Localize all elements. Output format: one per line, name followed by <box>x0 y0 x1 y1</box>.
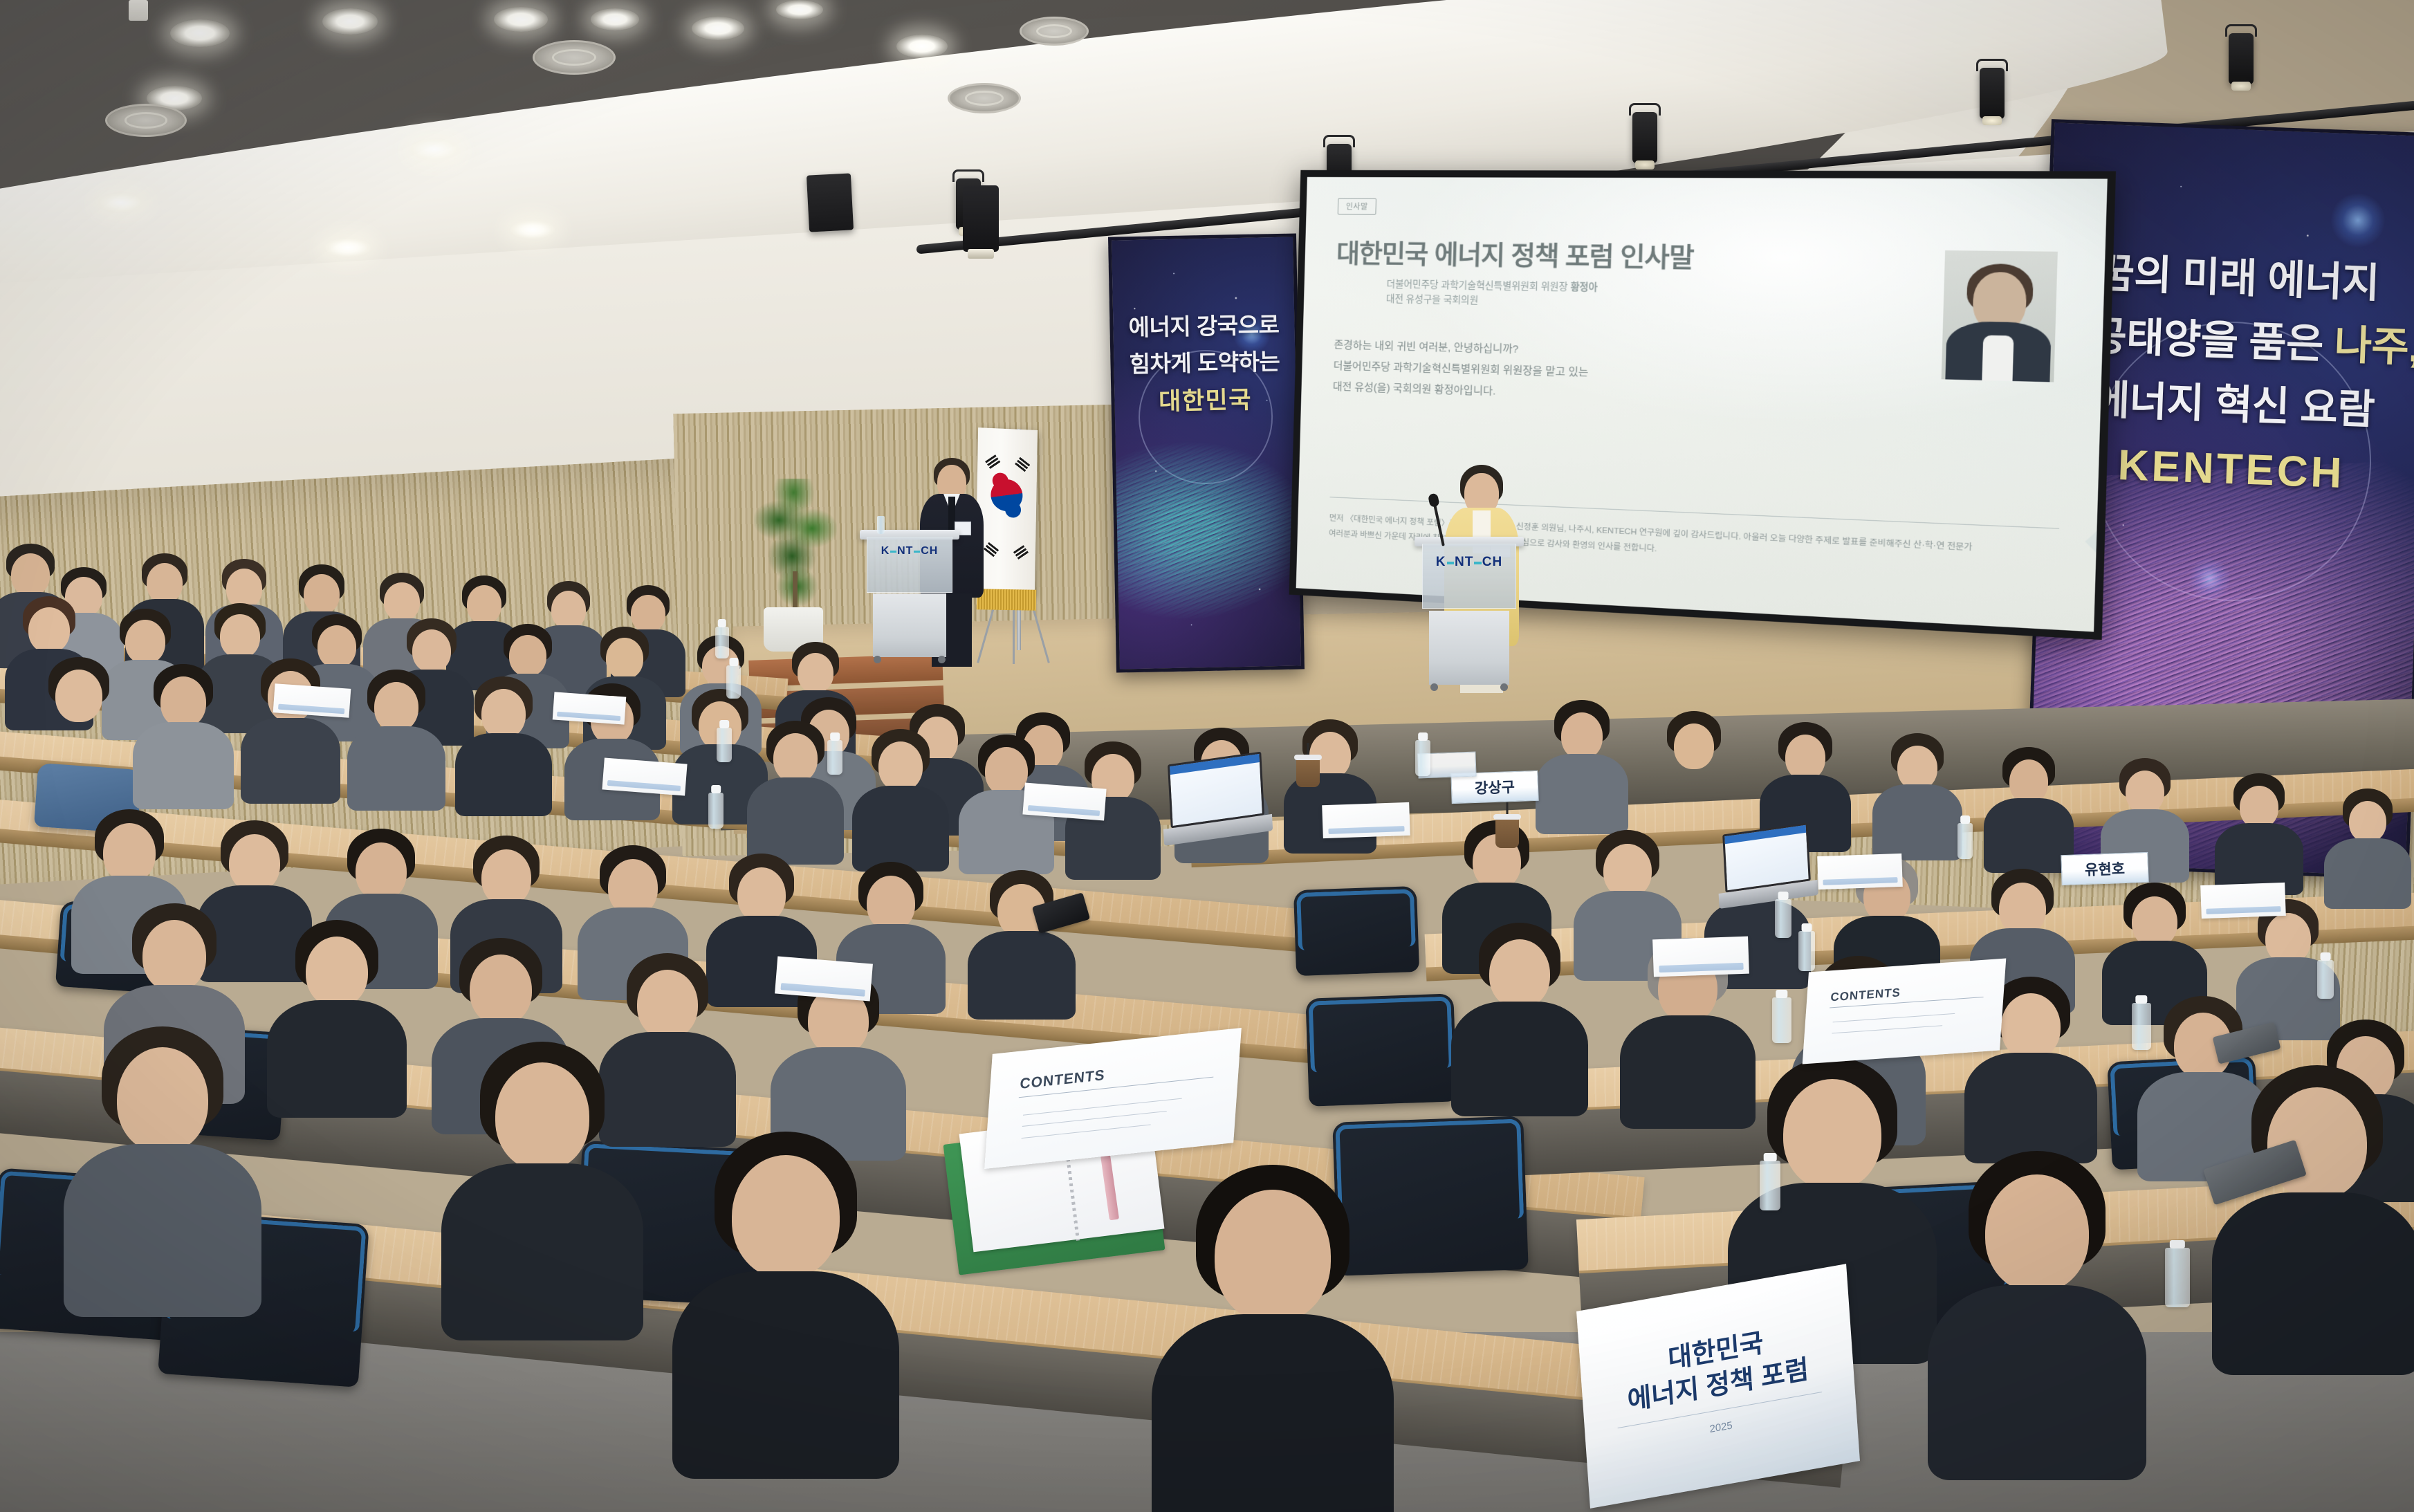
stage-spotlight <box>1980 68 2005 119</box>
chair <box>1305 993 1457 1106</box>
wall-speaker <box>807 173 854 232</box>
attendee <box>450 1042 635 1325</box>
booklet-title: 대한민국 에너지 정책 포럼 <box>1601 1315 1832 1422</box>
handout-paper <box>273 683 351 718</box>
slide-tag: 인사말 <box>1338 198 1376 215</box>
ceiling-downlight <box>494 7 548 32</box>
attendee <box>1455 923 1584 1104</box>
contents-label: CONTENTS <box>1830 986 1901 1004</box>
projection-screen: 인사말 대한민국 에너지 정책 포럼 인사말 더불어민주당 과학기술혁신특별위원… <box>1289 170 2116 640</box>
podium-water-bottle <box>877 516 885 534</box>
auditorium-scene: 에너지 강국으로 힘차게 도약하는 대한민국 꿈의 미래 에너지 인공태양을 품… <box>0 0 2414 1512</box>
coffee-cup <box>1495 818 1519 848</box>
laptop[interactable] <box>1168 752 1264 829</box>
banner-wave-graphic <box>1108 416 1305 643</box>
podium-left: KNTCH <box>867 530 952 657</box>
handout-paper <box>1652 937 1749 977</box>
slide-subtitle-org: 더불어민주당 과학기술혁신특별위원회 위원장 <box>1386 279 1567 292</box>
handout-paper <box>602 757 687 795</box>
attendee <box>855 729 946 866</box>
water-bottle <box>715 627 729 658</box>
standing-banner-left: 에너지 강국으로 힘차게 도약하는 대한민국 <box>1108 233 1305 672</box>
ceiling-air-vent <box>105 104 187 137</box>
water-bottle <box>1957 823 1973 859</box>
handout-paper <box>1817 854 1903 889</box>
ceiling-downlight <box>510 220 555 239</box>
podium-left-logo: KNTCH <box>867 545 952 557</box>
ceiling-downlight <box>692 17 744 40</box>
ceiling-downlight <box>322 8 378 35</box>
water-bottle <box>2132 1003 2151 1050</box>
podium-main-logo: KNTCH <box>1422 555 1516 570</box>
slide-subtitle-role: 대전 유성구을 국회의원 <box>1386 293 1479 306</box>
flag-fringe <box>977 589 1037 610</box>
ceiling-air-vent <box>1020 17 1089 46</box>
table-nameplate: 유현호 <box>2061 852 2148 885</box>
water-bottle <box>717 728 732 762</box>
stage-spotlight <box>2229 33 2254 84</box>
water-bottle <box>2165 1248 2190 1307</box>
laptop[interactable] <box>1722 822 1811 892</box>
attendee <box>1650 711 1738 841</box>
ceiling-air-vent <box>533 40 616 75</box>
attendee <box>30 657 127 795</box>
attendee <box>682 1132 890 1457</box>
taeguk-symbol <box>991 479 1023 512</box>
water-bottle <box>2317 960 2334 999</box>
water-bottle <box>708 793 724 829</box>
ceiling-downlight <box>97 192 145 213</box>
ceiling-downlight <box>325 238 371 257</box>
coffee-cup <box>1296 758 1320 787</box>
chair <box>1293 886 1419 976</box>
attendee <box>971 870 1072 1014</box>
attendee <box>1874 733 1960 860</box>
ceiling-projector <box>963 185 999 252</box>
water-bottle <box>827 740 842 775</box>
banner-left-line-1: 에너지 강국으로 <box>1113 306 1295 347</box>
water-bottle <box>1775 899 1791 938</box>
attendee <box>1538 700 1625 831</box>
attendee <box>136 664 231 801</box>
ceiling-downlight <box>170 19 230 47</box>
attendee <box>2327 789 2408 910</box>
attendee <box>1987 747 2071 873</box>
slide-speaker-name: 황정아 <box>1570 282 1598 293</box>
water-bottle <box>1772 997 1791 1043</box>
stage-spotlight <box>1632 112 1657 163</box>
handout-paper <box>553 692 627 724</box>
attendee <box>1162 1165 1383 1512</box>
handout-paper <box>2200 883 2286 919</box>
attendee <box>1937 1151 2137 1462</box>
ceiling-downlight <box>591 8 639 30</box>
slide-body: 존경하는 내외 귀빈 여러분, 안녕하십니까? 더불어민주당 과학기술혁신특별위… <box>1332 335 1801 412</box>
banner-right-accent: 나주, <box>2333 322 2414 371</box>
handout-paper <box>1022 783 1106 821</box>
podium-main: KNTCH <box>1422 537 1516 685</box>
handout-paper <box>1322 802 1410 838</box>
ceiling-downlight <box>896 35 948 58</box>
attendee <box>72 1026 253 1303</box>
attendee <box>271 920 403 1104</box>
potted-plant <box>754 479 837 652</box>
ceiling-downlight <box>776 0 823 19</box>
ceiling-air-vent <box>948 83 1021 113</box>
contents-handout: CONTENTS <box>1803 959 2007 1064</box>
banner-left-line-2: 힘차게 도약하는 <box>1114 343 1296 383</box>
attendee <box>458 676 549 809</box>
plant-trunk <box>793 571 798 613</box>
slide-speaker-photo <box>1942 250 2058 382</box>
water-bottle <box>1415 740 1430 776</box>
attendee <box>350 670 443 804</box>
flag-stand <box>982 602 1044 664</box>
water-bottle <box>1760 1161 1780 1210</box>
water-bottle <box>726 665 741 699</box>
ceiling-sprinkler <box>129 0 148 21</box>
attendee <box>2218 773 2301 896</box>
banner-left-highlight: 대한민국 <box>1114 380 1296 423</box>
attendee <box>2220 1065 2414 1358</box>
water-bottle <box>1798 931 1815 971</box>
attendee <box>243 658 338 794</box>
ceiling-downlight <box>409 138 459 160</box>
handout-paper <box>775 957 873 1002</box>
